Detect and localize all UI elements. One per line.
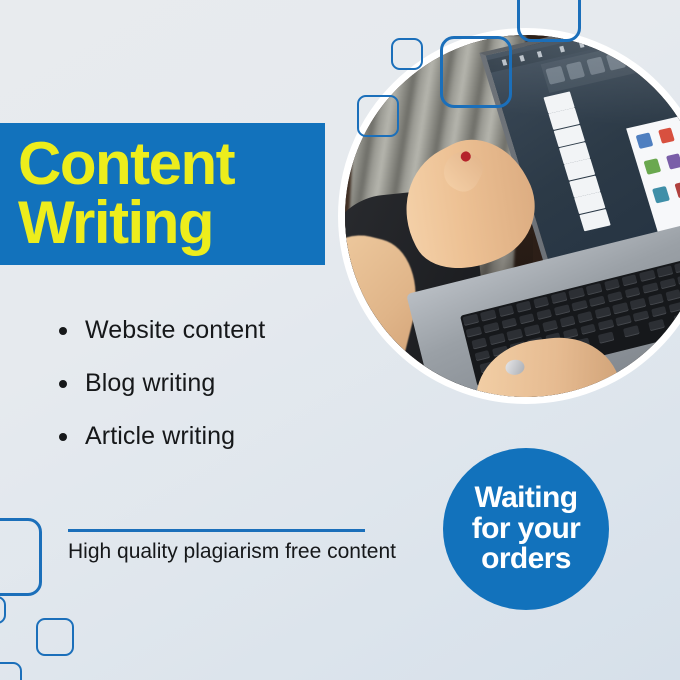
title-line-1: Content <box>18 135 325 194</box>
square-bottom-mid-icon <box>36 618 74 656</box>
list-item: Website content <box>55 316 385 345</box>
service-list: Website content Blog writing Article wri… <box>55 316 385 475</box>
square-bottom-left-xs-icon <box>0 596 6 624</box>
divider <box>68 529 365 532</box>
square-bottom-edge-icon <box>0 662 22 680</box>
title-banner: Content Writing <box>0 123 325 265</box>
square-top-mid-small-icon <box>391 38 423 70</box>
badge-line-2: for your <box>472 514 581 545</box>
promo-canvas: Content Writing Website content Blog wri… <box>0 0 680 680</box>
waiting-for-orders-badge: Waiting for your orders <box>443 448 609 610</box>
square-bottom-left-lg-icon <box>0 518 42 596</box>
badge-line-1: Waiting <box>475 483 578 514</box>
square-top-large-icon <box>440 36 512 108</box>
list-item: Blog writing <box>55 369 385 398</box>
laptop-photo <box>345 35 680 397</box>
square-left-upper-icon <box>357 95 399 137</box>
finger-ring <box>505 359 526 376</box>
footnote-text: High quality plagiarism free content <box>68 537 398 567</box>
list-item: Article writing <box>55 422 385 451</box>
title-line-2: Writing <box>18 194 325 253</box>
badge-line-3: orders <box>481 544 571 575</box>
square-top-right-cut-icon <box>517 0 581 42</box>
